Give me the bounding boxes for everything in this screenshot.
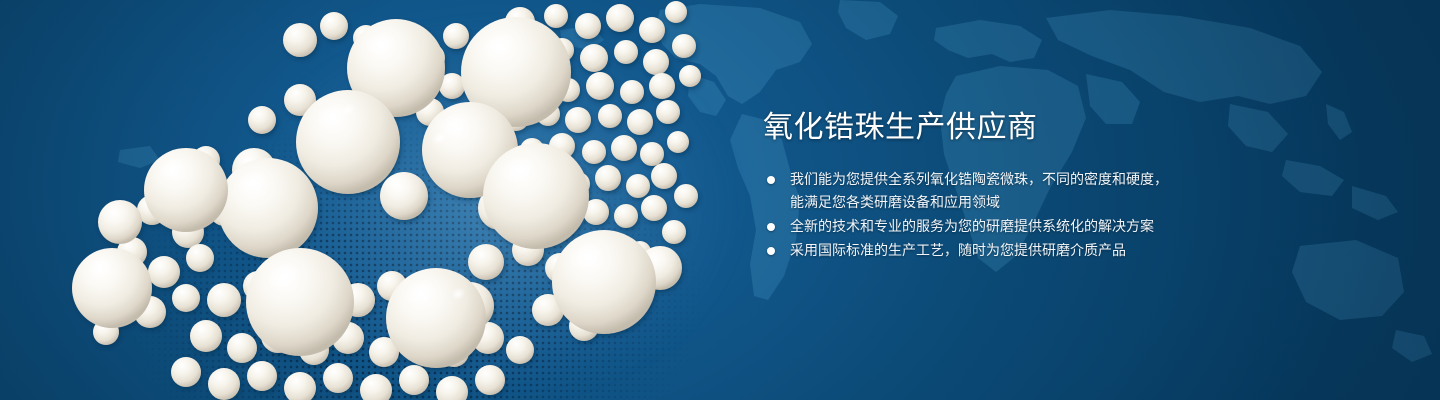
bullet-item-1: 我们能为您提供全系列氧化锆陶瓷微珠，不同的密度和硬度， 能满足您各类研磨设备和应… xyxy=(763,168,1233,214)
bullet-item-2: 全新的技术和专业的服务为您的研磨提供系统化的解决方案 xyxy=(763,215,1233,238)
bullet-marker-icon xyxy=(767,247,775,255)
banner-copy: 氧化锆珠生产供应商 我们能为您提供全系列氧化锆陶瓷微珠，不同的密度和硬度， 能满… xyxy=(763,108,1233,263)
bullet-item-1-line-2: 能满足您各类研磨设备和应用领域 xyxy=(790,191,1233,214)
bullet-item-2-line-1: 全新的技术和专业的服务为您的研磨提供系统化的解决方案 xyxy=(790,218,1154,234)
bullet-marker-icon xyxy=(767,176,775,184)
bullet-item-3: 采用国际标准的生产工艺，随时为您提供研磨介质产品 xyxy=(763,239,1233,262)
bullet-marker-icon xyxy=(767,223,775,231)
zirconia-beads-image xyxy=(0,0,760,400)
hero-banner: 氧化锆珠生产供应商 我们能为您提供全系列氧化锆陶瓷微珠，不同的密度和硬度， 能满… xyxy=(0,0,1440,400)
bullet-item-1-line-1: 我们能为您提供全系列氧化锆陶瓷微珠，不同的密度和硬度， xyxy=(790,171,1168,187)
banner-bullet-list: 我们能为您提供全系列氧化锆陶瓷微珠，不同的密度和硬度， 能满足您各类研磨设备和应… xyxy=(763,168,1233,262)
bullet-item-3-line-1: 采用国际标准的生产工艺，随时为您提供研磨介质产品 xyxy=(790,242,1126,258)
banner-headline: 氧化锆珠生产供应商 xyxy=(763,108,1233,148)
